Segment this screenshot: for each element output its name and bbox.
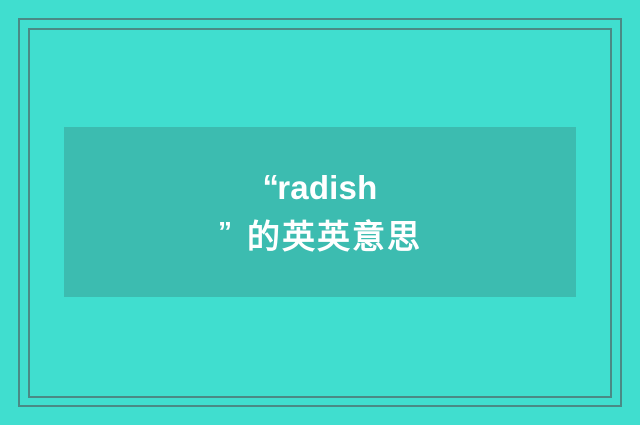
title-panel: “radish ”的英英意思 <box>64 127 576 297</box>
banner-title: “radish ”的英英意思 <box>64 171 576 253</box>
banner-canvas: “radish ”的英英意思 <box>0 0 640 425</box>
title-line-2: ”的英英意思 <box>72 220 568 253</box>
title-line-1: “radish <box>72 171 568 204</box>
title-cjk-text: 的英英意思 <box>247 220 422 253</box>
closing-quote-glyph: ” <box>218 218 233 246</box>
opening-quote-glyph: “ <box>263 170 280 203</box>
keyword-radish: radish <box>277 171 377 204</box>
